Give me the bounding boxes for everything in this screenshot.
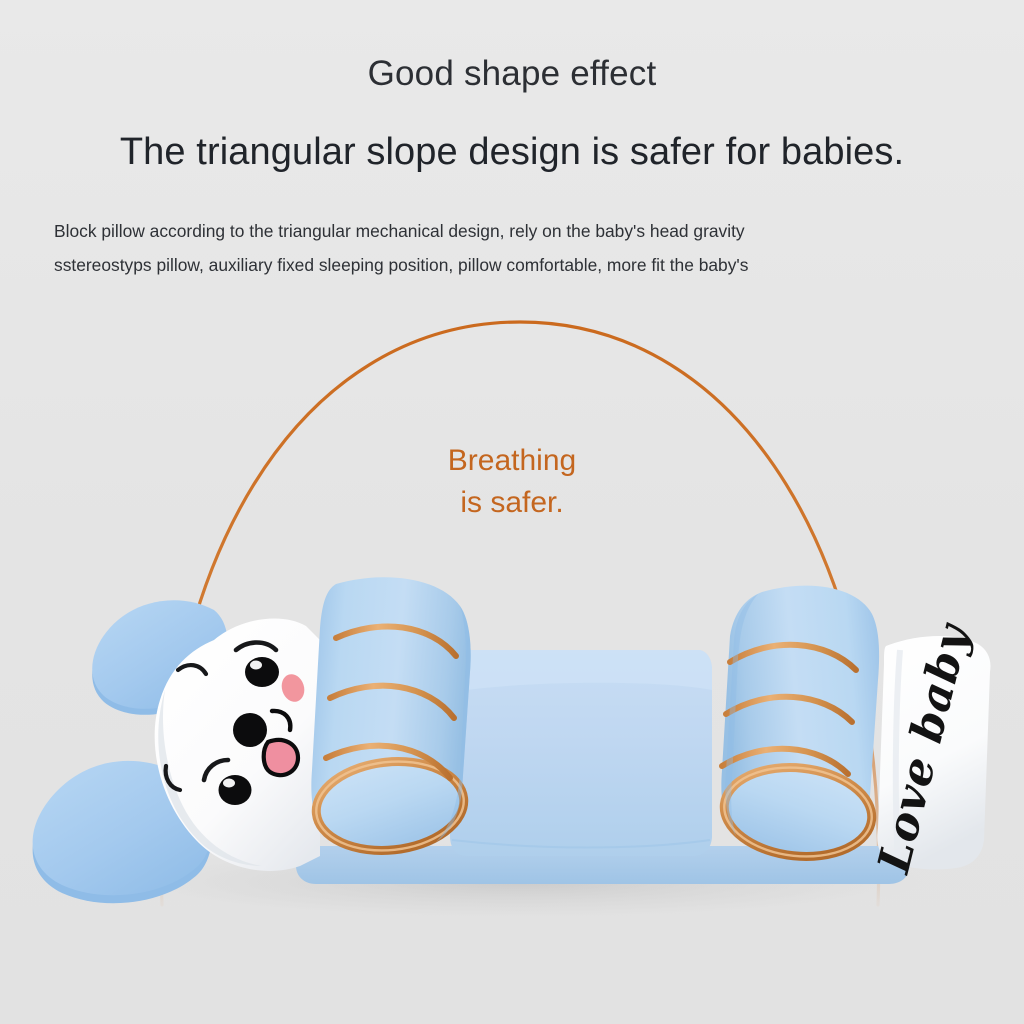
product-banner: Good shape effect The triangular slope d…: [0, 0, 1024, 1024]
breathing-callout-line-2: is safer.: [0, 482, 1024, 524]
breathing-callout: Breathing is safer.: [0, 440, 1024, 524]
center-pad: [450, 650, 712, 856]
nose-icon: [233, 713, 267, 747]
white-pillow: Love baby: [868, 617, 990, 880]
right-bolster: [720, 586, 879, 864]
eye-upper-icon: [245, 657, 279, 687]
eye-lower-icon: [219, 775, 252, 805]
breathing-callout-line-1: Breathing: [448, 444, 576, 477]
left-bolster: [311, 577, 470, 857]
